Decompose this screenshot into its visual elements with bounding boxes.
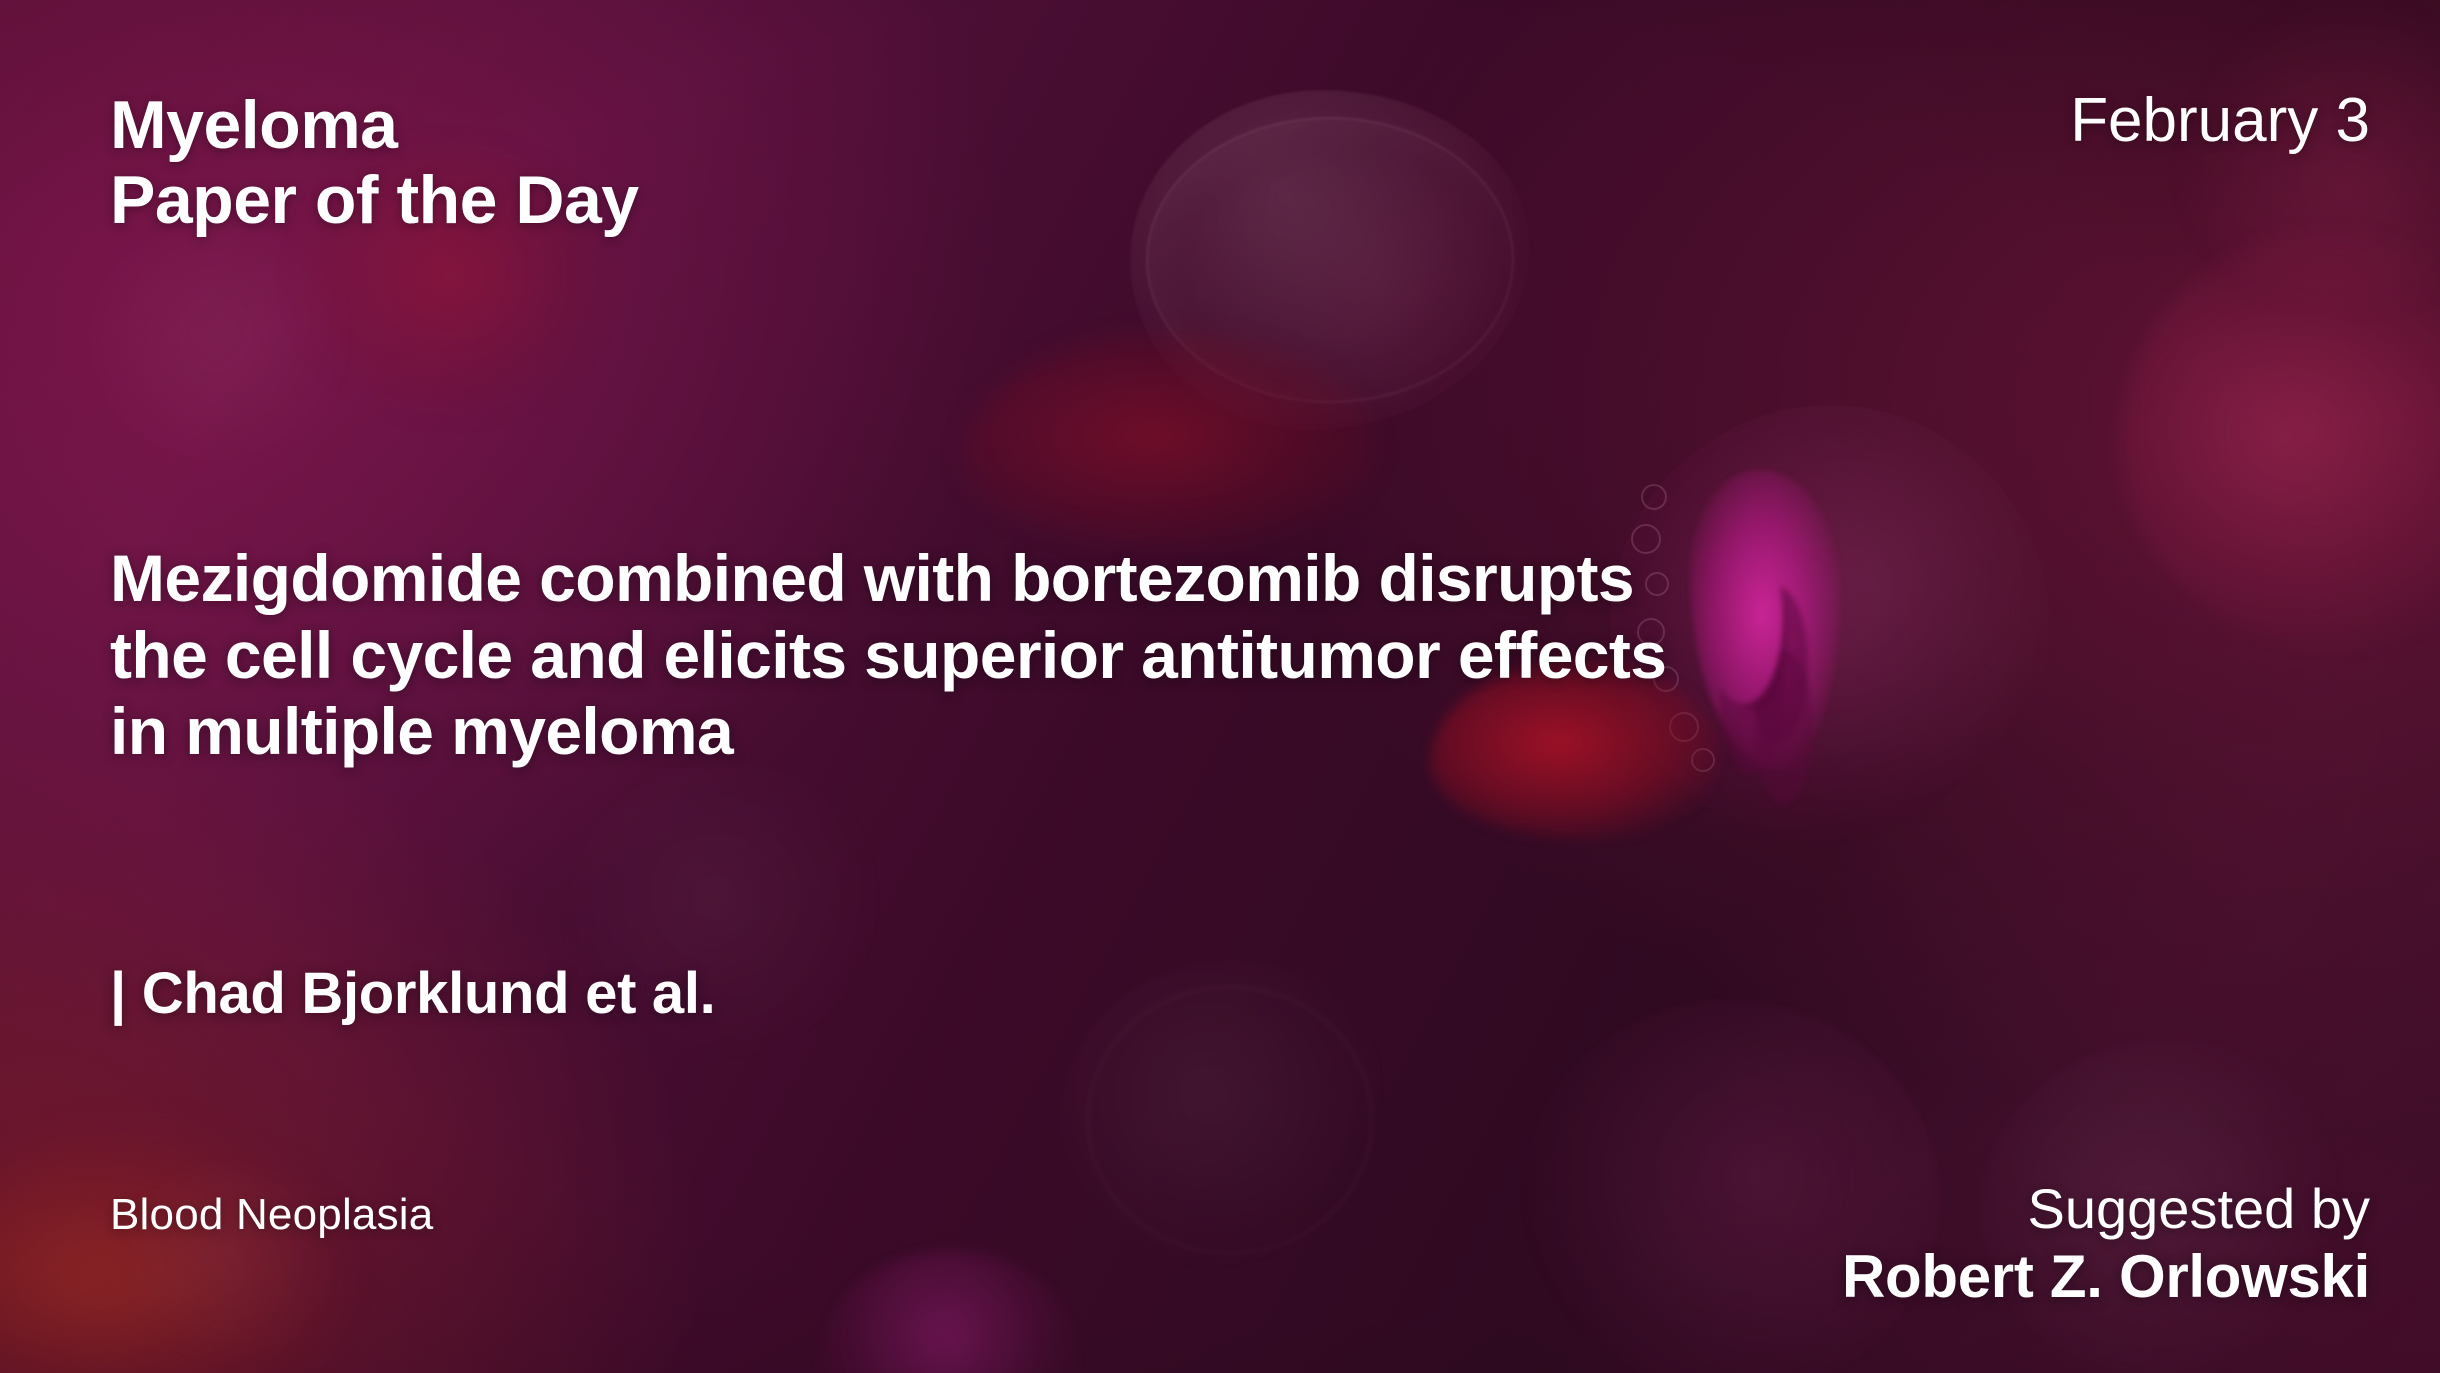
paper-title: Mezigdomide combined with bortezomib dis… — [110, 540, 1730, 770]
brand-title-line2: Paper of the Day — [110, 163, 639, 238]
brand-title: Myeloma Paper of the Day — [110, 88, 639, 238]
suggested-by-label: Suggested by — [1842, 1177, 2370, 1242]
paper-authors: | Chad Bjorklund et al. — [110, 960, 716, 1027]
card-content: Myeloma Paper of the Day February 3 Mezi… — [0, 0, 2440, 1373]
suggested-by-block: Suggested by Robert Z. Orlowski — [1842, 1177, 2370, 1313]
suggested-by-name: Robert Z. Orlowski — [1842, 1242, 2370, 1313]
paper-of-the-day-card: Myeloma Paper of the Day February 3 Mezi… — [0, 0, 2440, 1373]
journal-name: Blood Neoplasia — [110, 1190, 433, 1240]
date-label: February 3 — [2070, 88, 2370, 153]
brand-title-line1: Myeloma — [110, 88, 639, 163]
header: Myeloma Paper of the Day February 3 — [110, 88, 2370, 238]
